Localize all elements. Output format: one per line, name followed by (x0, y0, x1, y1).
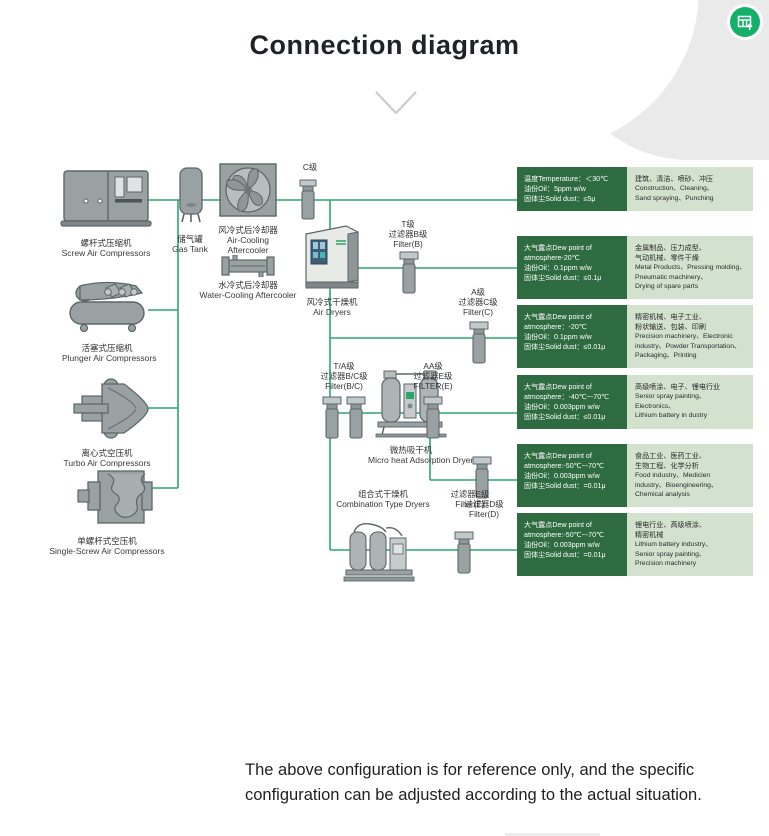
spec-applications: 食品工业、医药工业、 生物工程、化学分析 Food industry、Medic… (627, 444, 753, 507)
caption-air-dryers: 风冷式干燥机 Air Dryers (302, 297, 362, 317)
grid-add-glyph (737, 14, 754, 31)
air-dryer-icon (302, 222, 362, 290)
equipment-gas-tank: 储气罐 Gas Tank (160, 165, 220, 254)
turbo-air-compressor-icon (62, 378, 152, 440)
equipment-single-screw-air-compressors: 单螺杆式空压机 Single-Screw Air Compressors (42, 468, 172, 556)
equipment-filter-e-aa (421, 395, 445, 446)
water-cooling-aftercooler-icon (217, 255, 279, 277)
spec-applications: 精密机械、电子工业、 粉状输送、包装、印刷 Precision machiner… (627, 305, 753, 368)
spec-applications: 建筑、清洁、喷砂、冲压 Construction、Cleaning、 Sand … (627, 167, 753, 211)
spec-conditions: 温度Temperature：＜30℃ 油份Oil：5ppm w/w 固体尘Sol… (517, 167, 627, 211)
equipment-plunger-air-compressors: 活塞式压缩机 Plunger Air Compressors (62, 280, 152, 363)
filter-icon (467, 320, 491, 366)
label-filter-c-top: C级 (287, 163, 333, 173)
plunger-air-compressor-icon (62, 280, 152, 335)
spec-row-1: 温度Temperature：＜30℃ 油份Oil：5ppm w/w 固体尘Sol… (517, 167, 753, 211)
equipment-air-dryers: 风冷式干燥机 Air Dryers (302, 222, 362, 317)
footnote-text: The above configuration is for reference… (245, 758, 755, 808)
screw-air-compressor-icon (60, 168, 152, 230)
combination-type-dryer-icon (340, 518, 426, 584)
equipment-filter-c (467, 320, 491, 371)
label-filter-e: 过滤器E级 Filter(E) (440, 490, 500, 510)
label-filter-e-aa: AA级 过滤器E级 FILTER(E) (400, 362, 466, 392)
spec-conditions: 大气露点Dew point of atmosphere:-50℃~-70℃ 油份… (517, 444, 627, 507)
spec-row-6: 大气露点Dew point of atmosphere:-50℃~-70℃ 油份… (517, 513, 753, 576)
caption-single-screw-air-compressors: 单螺杆式空压机 Single-Screw Air Compressors (42, 536, 172, 556)
label-filter-b: T级 过滤器B级 Filter(B) (378, 220, 438, 250)
caption-micro-heat-adsorption-dryer: 微热吸干机 Micro heat Adsorption Dryer (368, 445, 454, 465)
label-filter-c: A级 过滤器C级 Filter(C) (448, 288, 508, 318)
caption-air-cooling-aftercooler: 风冷式后冷却器 Air-Cooling Aftercooler (216, 225, 280, 255)
filter-icon (397, 250, 421, 296)
equipment-turbo-air-compressors: 离心式空压机 Turbo Air Compressors (62, 378, 152, 468)
filter-icon (452, 530, 476, 576)
gas-tank-icon (160, 165, 220, 227)
spec-applications: 锂电行业、高级喷涂、 精密机械 Lithium battery industry… (627, 513, 753, 576)
spec-row-4: 大气露点Dew point of atmosphere：-40℃~-70℃ 油份… (517, 375, 753, 429)
equipment-filter-bc-pair (322, 395, 368, 446)
caption-water-cooling-aftercooler: 水冷式后冷却器 Water-Cooling Aftercooler (192, 280, 304, 300)
equipment-water-cooling-aftercooler: 水冷式后冷却器 Water-Cooling Aftercooler (192, 255, 304, 300)
spec-conditions: 大气露点Dew point of atmosphere：-40℃~-70℃ 油份… (517, 375, 627, 429)
equipment-screw-air-compressors: 螺杆式压缩机 Screw Air Compressors (60, 168, 152, 258)
single-screw-air-compressor-icon (60, 468, 190, 528)
filter-pair-icon (322, 395, 368, 441)
caption-screw-air-compressors: 螺杆式压缩机 Screw Air Compressors (60, 238, 152, 258)
equipment-combination-type-dryers (340, 518, 426, 589)
filter-icon (297, 178, 319, 222)
spec-conditions: 大气露点Dew point of atmosphere-20℃ 油份Oil：0.… (517, 236, 627, 299)
label-combination-type-dryers: 组合式干燥机 Combination Type Dryers (324, 490, 442, 510)
chevron-down-icon (374, 90, 418, 116)
equipment-air-cooling-aftercooler: 风冷式后冷却器 Air-Cooling Aftercooler (216, 162, 280, 255)
page-title: Connection diagram (0, 30, 769, 61)
spec-conditions: 大气露点Dew point of atmosphere:-50℃~-70℃ 油份… (517, 513, 627, 576)
caption-turbo-air-compressors: 离心式空压机 Turbo Air Compressors (62, 448, 152, 468)
equipment-filter-c-top (297, 178, 319, 227)
spec-row-5: 大气露点Dew point of atmosphere:-50℃~-70℃ 油份… (517, 444, 753, 507)
equipment-filter-b (397, 250, 421, 301)
air-cooling-aftercooler-icon (216, 162, 280, 218)
spec-applications: 高级喷涂、电子、锂电行业 Senior spray painting、 Elec… (627, 375, 753, 429)
caption-plunger-air-compressors: 活塞式压缩机 Plunger Air Compressors (62, 343, 152, 363)
spec-row-2: 大气露点Dew point of atmosphere-20℃ 油份Oil：0.… (517, 236, 753, 299)
equipment-filter-e (452, 530, 476, 581)
spec-applications: 金属制品、压力成型、 气动机械、零件干燥 Metal Products、Pres… (627, 236, 753, 299)
filter-icon (421, 395, 445, 441)
spec-conditions: 大气露点Dew point of atmosphere：-20℃ 油份Oil：0… (517, 305, 627, 368)
spec-row-3: 大气露点Dew point of atmosphere：-20℃ 油份Oil：0… (517, 305, 753, 368)
grid-add-icon[interactable] (730, 7, 760, 37)
caption-gas-tank: 储气罐 Gas Tank (160, 234, 220, 254)
